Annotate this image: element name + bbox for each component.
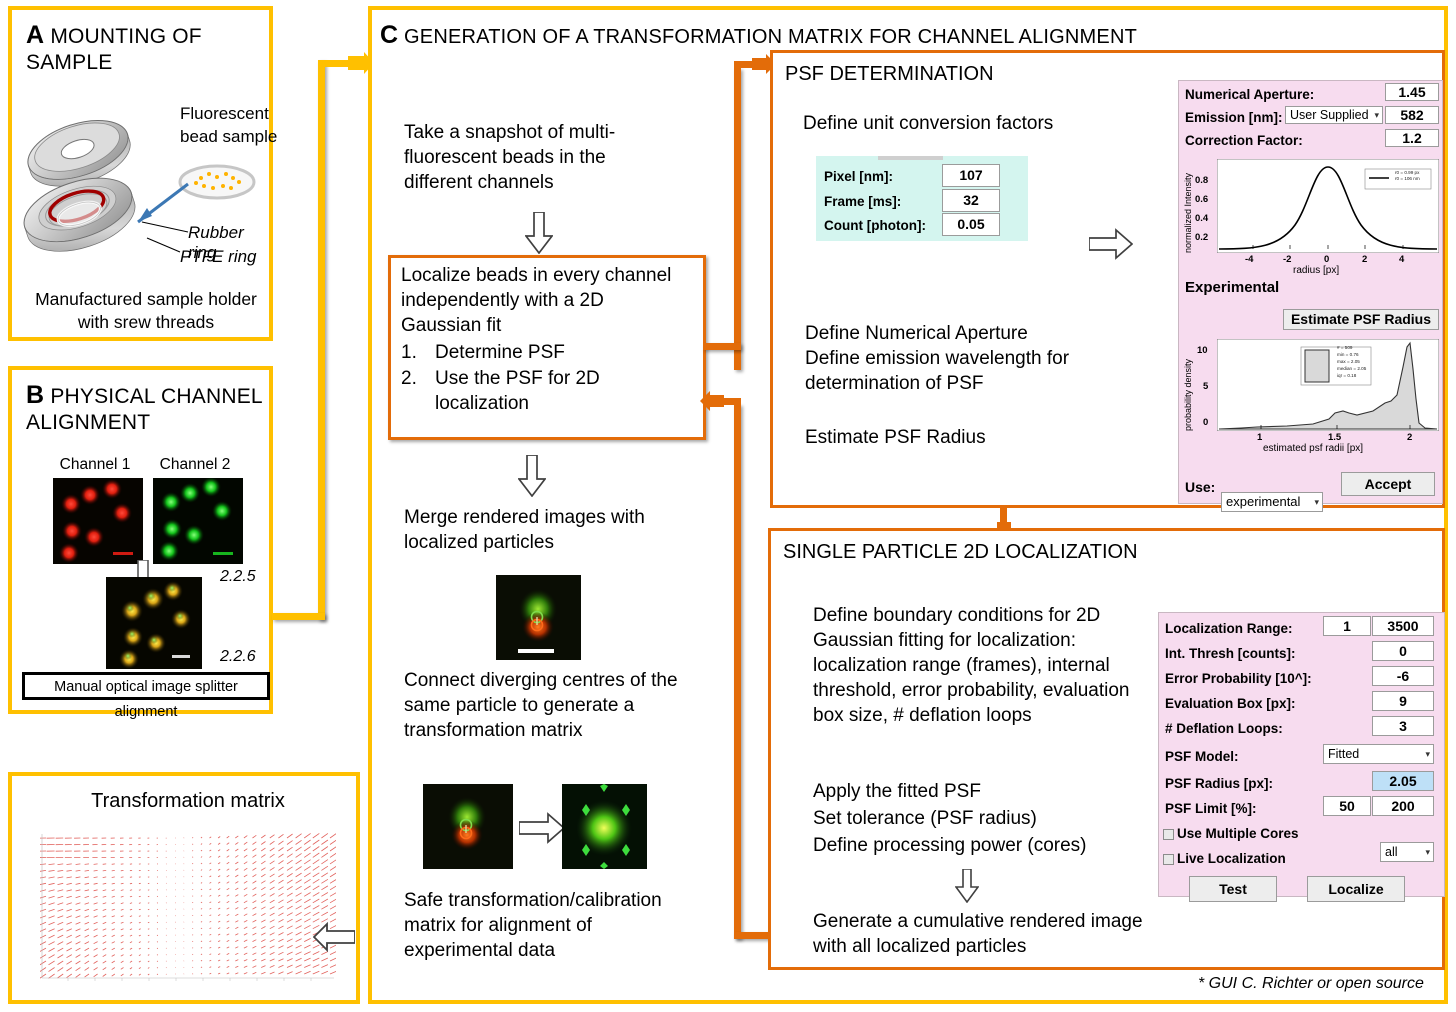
psf-profile-xtick-2: 2 <box>1362 254 1367 265</box>
micrograph-before-transform <box>423 784 513 869</box>
step-merge-rendered: Merge rendered images with localized par… <box>404 505 689 555</box>
unit-row-2-value-field[interactable]: 0.05 <box>942 213 1000 236</box>
unit-row-2-label: Count [photon]: <box>824 218 926 233</box>
loc-gui-psf-limit-min-value: 50 <box>1339 798 1355 814</box>
panel-b-title-text: PHYSICAL CHANNEL ALIGNMENT <box>26 385 262 434</box>
psf-line-emission: Define emission wavelength for determina… <box>805 346 1115 396</box>
chevron-down-icon: ▾ <box>1425 843 1430 861</box>
loc-panel-title: SINGLE PARTICLE 2D LOCALIZATION <box>783 541 1138 564</box>
psf-hist-ytick-10: 10 <box>1197 345 1208 356</box>
loc-gui-psf-limit-label: PSF Limit [%]: <box>1165 801 1257 816</box>
loc-gui-deflation-label: # Deflation Loops: <box>1165 721 1283 736</box>
psf-hist-svg <box>1217 339 1439 431</box>
loc-gui-psf-model-value: Fitted <box>1328 747 1359 761</box>
loc-gui-cores-value: all <box>1385 845 1398 859</box>
psf-profile-ylabel: normalized Intensity <box>1183 159 1193 253</box>
micrograph-single-bead-merged <box>496 575 581 660</box>
channel-2-label: Channel 2 <box>150 456 240 474</box>
loc-gui-psf-radius-value: 2.05 <box>1389 773 1416 789</box>
chevron-down-icon: ▾ <box>1314 493 1319 511</box>
chevron-down-icon: ▾ <box>1425 745 1430 763</box>
loc-gui-error-prob-label: Error Probability [10^]: <box>1165 671 1312 686</box>
psf-gui-na-label: Numerical Aperture: <box>1185 87 1314 102</box>
step-take-snapshot: Take a snapshot of multi-fluorescent bea… <box>404 120 674 195</box>
panel-b-title: B PHYSICAL CHANNEL ALIGNMENT <box>26 382 266 436</box>
label-ptfe-ring: PTFE ring <box>180 247 257 267</box>
psf-gui-experimental-label: Experimental <box>1185 279 1279 296</box>
unit-gui-tab-divider <box>878 156 943 160</box>
connector-loc-return-arrowhead-icon <box>700 391 724 413</box>
loc-gui-error-prob-value: -6 <box>1397 668 1409 684</box>
psf-gui-use-label: Use: <box>1185 479 1215 495</box>
arrow-down-to-localize-icon <box>525 212 553 254</box>
connector-loc-return-bottom <box>734 932 770 939</box>
unit-conversion-gui: Pixel [nm]: 107 Frame [ms]: 32 Count [ph… <box>816 156 1028 241</box>
loc-gui-eval-box-field[interactable]: 9 <box>1372 691 1434 711</box>
loc-gui-range-start-value: 1 <box>1343 618 1351 634</box>
psf-profile-xtick--4: -4 <box>1245 254 1253 265</box>
loc-gui-psf-limit-max-value: 200 <box>1391 798 1414 814</box>
psf-gui-emission-value: 582 <box>1400 107 1423 123</box>
loc-gui-eval-box-value: 9 <box>1399 693 1407 709</box>
unit-row-0-value: 107 <box>959 167 982 183</box>
psf-profile-legend-line-2: r0 = 106 nm <box>1395 176 1420 182</box>
estimate-psf-radius-button-label: Estimate PSF Radius <box>1291 311 1431 327</box>
psf-profile-xlabel: radius [px] <box>1293 265 1339 276</box>
panel-transformation-matrix: Transformation matrix <box>8 772 360 1004</box>
loc-gui-psf-radius-field[interactable]: 2.05 <box>1372 771 1434 791</box>
psf-gui-correction-field[interactable]: 1.2 <box>1385 129 1439 147</box>
loc-line-apply-psf: Apply the fitted PSF <box>813 779 981 804</box>
step-ref-226: 2.2.6 <box>220 648 256 666</box>
micrograph-after-transform <box>562 784 647 869</box>
psf-gui-na-field[interactable]: 1.45 <box>1385 83 1439 101</box>
psf-profile-chart: normalized Intensity 0.8 0.6 0.4 0.2 r0 … <box>1183 153 1441 277</box>
psf-panel-title: PSF DETERMINATION <box>785 63 994 86</box>
loc-line-generate-cumulative: Generate a cumulative rendered image wit… <box>813 909 1143 959</box>
psf-gui-emission-select-value: User Supplied <box>1290 108 1369 122</box>
micrograph-merged <box>106 577 202 669</box>
arrow-right-to-psf-gui-icon <box>1089 228 1133 260</box>
loc-gui-psf-radius-label: PSF Radius [px]: <box>1165 776 1273 791</box>
loc-gui-psf-model-label: PSF Model: <box>1165 749 1239 764</box>
localization-gui: Localization Range: 1 3500 Int. Thresh [… <box>1158 612 1445 897</box>
arrow-right-transform-icon <box>519 812 565 844</box>
accept-button[interactable]: Accept <box>1341 472 1435 496</box>
psf-gui-na-value: 1.45 <box>1398 84 1425 100</box>
loc-gui-range-start-field[interactable]: 1 <box>1323 616 1371 636</box>
localize-line-3: Gaussian fit <box>401 313 501 338</box>
arrow-down-to-cumulative-icon <box>955 869 979 903</box>
panel-a-letter: A <box>26 21 44 49</box>
matrix-input-arrow-icon <box>313 922 355 952</box>
chevron-down-icon: ▾ <box>1374 107 1379 123</box>
psf-gui-emission-select[interactable]: User Supplied ▾ <box>1285 106 1383 124</box>
psf-line-define-units: Define unit conversion factors <box>803 111 1053 136</box>
loc-gui-live-localization-label: Live Localization <box>1177 851 1286 866</box>
psf-hist-xtick-1: 1 <box>1257 432 1262 443</box>
arrow-down-to-merge-icon <box>518 455 546 497</box>
loc-gui-error-prob-field[interactable]: -6 <box>1372 666 1434 686</box>
manual-splitter-alignment-text: Manual optical image splitter alignment <box>54 679 238 720</box>
loc-line-boundary-conditions: Define boundary conditions for 2D Gaussi… <box>813 603 1133 728</box>
estimate-psf-radius-button[interactable]: Estimate PSF Radius <box>1283 309 1439 330</box>
loc-gui-threshold-value: 0 <box>1399 643 1407 659</box>
psf-hist-stat-median-value: 2.05 <box>1357 366 1366 371</box>
gui-footnote: * GUI C. Richter or open source <box>1198 975 1424 993</box>
psf-hist-ylabel: probability density <box>1183 339 1193 431</box>
psf-hist-stat-max-value: 2.05 <box>1351 359 1360 364</box>
localize-item-1-number: 1. <box>401 340 417 365</box>
localize-line-2: independently with a 2D <box>401 288 604 313</box>
psf-profile-ytick-0.6: 0.6 <box>1195 194 1208 205</box>
loc-gui-range-label: Localization Range: <box>1165 621 1293 636</box>
connector-b-to-c-bottom <box>272 613 325 620</box>
loc-gui-eval-box-label: Evaluation Box [px]: <box>1165 696 1296 711</box>
psf-determination-gui: Numerical Aperture: 1.45 Emission [nm]: … <box>1178 80 1443 504</box>
step-safe-matrix: Safe transformation/calibration matrix f… <box>404 888 704 963</box>
localize-item-1: Determine PSF <box>435 340 565 365</box>
transformation-matrix-title: Transformation matrix <box>12 790 364 813</box>
psf-hist-stat-iqr: iqr = 0.18 <box>1337 373 1356 379</box>
loc-gui-range-end-field[interactable]: 3500 <box>1372 616 1434 636</box>
transformation-matrix-quiver-plot <box>40 830 336 985</box>
loc-gui-live-localization-checkbox[interactable]: Live Localization <box>1163 851 1286 866</box>
connector-localize-to-psf-vertical <box>734 68 741 370</box>
loc-line-processing-power: Define processing power (cores) <box>813 833 1087 858</box>
connector-loc-return-vertical <box>734 404 741 939</box>
psf-hist-ytick-5: 5 <box>1203 381 1208 392</box>
psf-hist-stat-count-value: 509 <box>1345 345 1353 350</box>
psf-line-numerical-aperture: Define Numerical Aperture <box>805 321 1028 346</box>
localize-item-2: Use the PSF for 2D localization <box>435 366 625 416</box>
loc-gui-multiple-cores-label: Use Multiple Cores <box>1177 826 1299 841</box>
localize-button[interactable]: Localize <box>1307 876 1405 902</box>
loc-gui-threshold-field[interactable]: 0 <box>1372 641 1434 661</box>
unit-row-1-label: Frame [ms]: <box>824 194 901 209</box>
connector-b-to-c-vertical <box>318 60 325 620</box>
psf-gui-correction-value: 1.2 <box>1402 130 1421 146</box>
psf-profile-xtick-4: 4 <box>1399 254 1404 265</box>
panel-a-title-text: MOUNTING OF SAMPLE <box>26 25 202 74</box>
unit-row-1-value: 32 <box>963 192 979 208</box>
psf-hist-xtick-2: 2 <box>1407 432 1412 443</box>
psf-hist-stat-count: # = 509 <box>1337 345 1352 351</box>
panel-b-letter: B <box>26 381 44 409</box>
connector-localize-to-psf-bottom <box>703 343 741 350</box>
psf-profile-xtick--2: -2 <box>1283 254 1291 265</box>
psf-hist-xtick-1.5: 1.5 <box>1328 432 1341 443</box>
psf-profile-ytick-0.2: 0.2 <box>1195 232 1208 243</box>
box-localize-beads: Localize beads in every channel independ… <box>388 255 706 440</box>
psf-hist-stat-median: median = 2.05 <box>1337 366 1366 372</box>
localize-line-1: Localize beads in every channel <box>401 263 671 288</box>
psf-gui-correction-label: Correction Factor: <box>1185 133 1303 148</box>
unit-row-0-value-field[interactable]: 107 <box>942 164 1000 187</box>
loc-line-set-tolerance: Set tolerance (PSF radius) <box>813 806 1037 831</box>
test-button[interactable]: Test <box>1189 876 1277 902</box>
loc-gui-threshold-label: Int. Thresh [counts]: <box>1165 646 1296 661</box>
psf-profile-ytick-0.4: 0.4 <box>1195 213 1208 224</box>
checkbox-icon <box>1163 854 1174 865</box>
panel-c-letter: C <box>380 21 398 49</box>
localize-item-2-number: 2. <box>401 366 417 391</box>
psf-hist-ytick-0: 0 <box>1203 417 1208 428</box>
psf-profile-xtick-0: 0 <box>1324 254 1329 265</box>
loc-gui-deflation-field[interactable]: 3 <box>1372 716 1434 736</box>
localize-button-label: Localize <box>1328 881 1383 897</box>
step-connect-centres: Connect diverging centres of the same pa… <box>404 668 704 743</box>
psf-hist-stat-min-value: 0.76 <box>1350 352 1359 357</box>
panel-b-physical-channel-alignment: B PHYSICAL CHANNEL ALIGNMENT Channel 1 C… <box>8 366 273 714</box>
psf-radii-histogram-chart: probability density 10 5 0 # = 509 min =… <box>1183 333 1441 459</box>
loc-gui-psf-limit-min-field[interactable]: 50 <box>1323 796 1371 816</box>
unit-row-2-value: 0.05 <box>957 216 984 232</box>
psf-gui-use-select-value: experimental <box>1226 494 1300 509</box>
psf-gui-use-select[interactable]: experimental ▾ <box>1221 492 1323 512</box>
loc-gui-range-end-value: 3500 <box>1387 618 1418 634</box>
micrograph-channel-1 <box>53 478 143 564</box>
panel-a-caption: Manufactured sample holder with srew thr… <box>22 288 270 334</box>
manual-splitter-alignment-box: Manual optical image splitter alignment <box>22 672 270 700</box>
panel-a-title: A MOUNTING OF SAMPLE <box>26 22 256 76</box>
label-fluorescent-bead-sample-text: Fluorescent bead sample <box>180 104 277 146</box>
panel-c-title-text: GENERATION OF A TRANSFORMATION MATRIX FO… <box>404 26 1137 48</box>
checkbox-icon <box>1163 829 1174 840</box>
psf-hist-stat-min: min = 0.76 <box>1337 352 1359 358</box>
loc-gui-cores-select[interactable]: all ▾ <box>1380 842 1434 862</box>
panel-c-title: C GENERATION OF A TRANSFORMATION MATRIX … <box>380 22 1440 50</box>
psf-gui-emission-field[interactable]: 582 <box>1385 106 1439 124</box>
micrograph-channel-2 <box>153 478 243 564</box>
loc-gui-multiple-cores-checkbox[interactable]: Use Multiple Cores <box>1163 826 1299 841</box>
psf-hist-stat-iqr-value: 0.18 <box>1347 373 1356 378</box>
channel-1-label: Channel 1 <box>50 456 140 474</box>
loc-gui-psf-limit-max-field[interactable]: 200 <box>1372 796 1434 816</box>
psf-profile-ytick-0.8: 0.8 <box>1195 175 1208 186</box>
step-ref-225: 2.2.5 <box>220 568 256 586</box>
panel-a-mounting-of-sample: A MOUNTING OF SAMPLE <box>8 6 273 341</box>
unit-row-0-label: Pixel [nm]: <box>824 169 893 184</box>
psf-hist-xlabel: estimated psf radii [px] <box>1263 443 1363 454</box>
loc-gui-deflation-value: 3 <box>1399 718 1407 734</box>
quiver-svg <box>40 830 336 985</box>
unit-row-1-value-field[interactable]: 32 <box>942 189 1000 212</box>
test-button-label: Test <box>1219 881 1247 897</box>
psf-gui-emission-label: Emission [nm]: <box>1185 110 1283 125</box>
label-fluorescent-bead-sample: Fluorescent bead sample <box>180 102 285 148</box>
psf-line-estimate-radius: Estimate PSF Radius <box>805 425 986 450</box>
loc-gui-psf-model-select[interactable]: Fitted ▾ <box>1323 744 1434 764</box>
psf-hist-stat-max: max = 2.05 <box>1337 359 1360 365</box>
accept-button-label: Accept <box>1365 476 1412 492</box>
